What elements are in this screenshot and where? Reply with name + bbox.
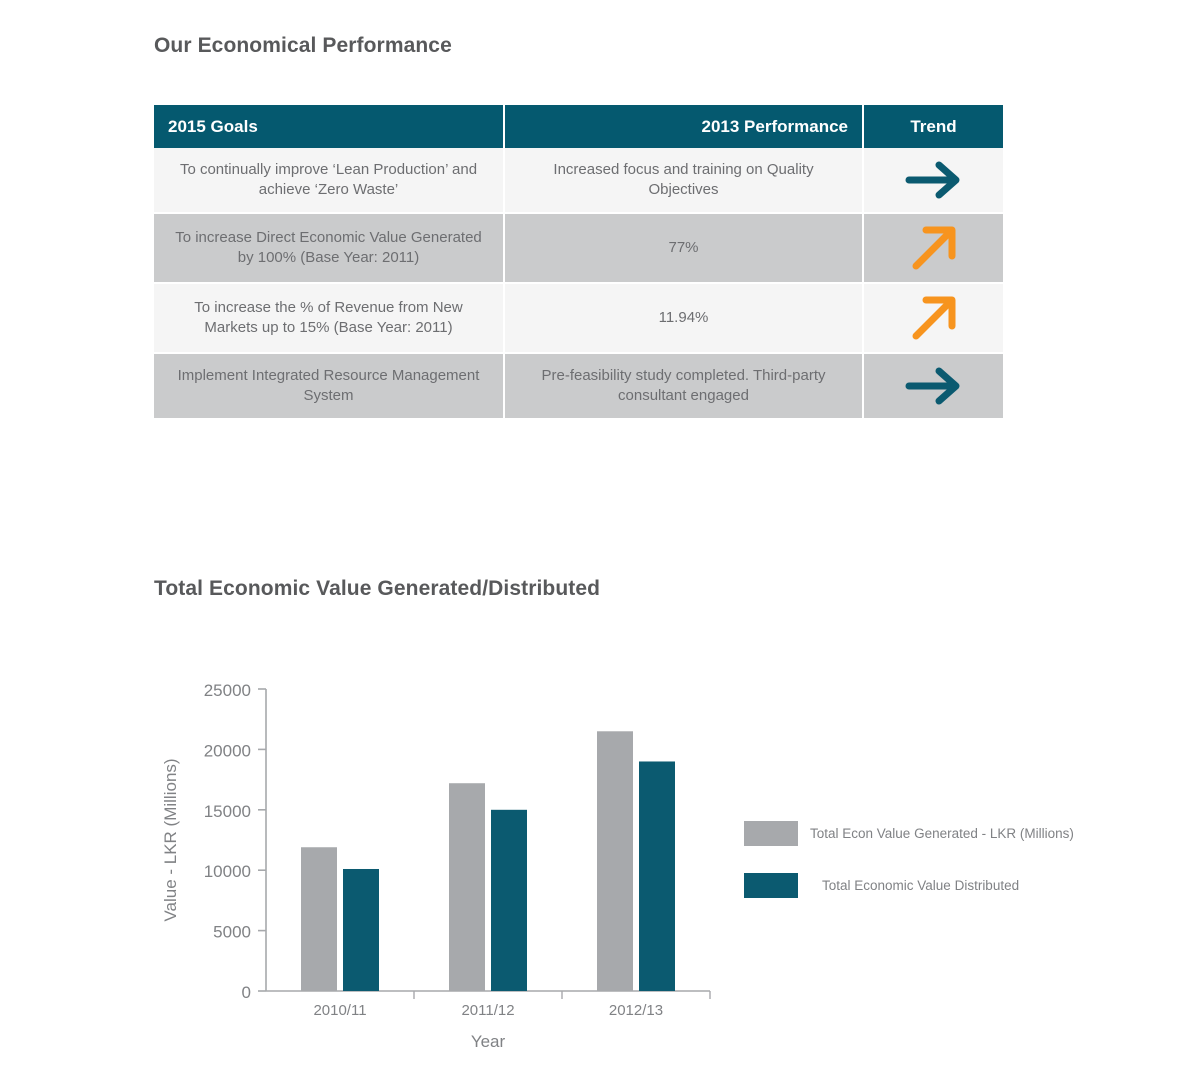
cell-trend bbox=[864, 148, 1003, 214]
legend-swatch-generated bbox=[744, 821, 798, 846]
column-header-goals: 2015 Goals bbox=[154, 105, 505, 148]
cell-goal: To increase Direct Economic Value Genera… bbox=[154, 214, 505, 284]
arrow-right-icon bbox=[903, 158, 965, 202]
arrow-right-icon bbox=[903, 364, 965, 408]
svg-text:2010/11: 2010/11 bbox=[313, 1002, 366, 1019]
svg-text:2011/12: 2011/12 bbox=[461, 1002, 514, 1019]
cell-performance: Increased focus and training on Quality … bbox=[505, 148, 864, 214]
svg-text:0: 0 bbox=[242, 983, 251, 1002]
cell-performance: 77% bbox=[505, 214, 864, 284]
svg-text:Year: Year bbox=[471, 1032, 506, 1051]
legend-swatch-distributed bbox=[744, 873, 798, 898]
arrow-up-right-icon bbox=[906, 222, 962, 274]
table-row: To continually improve ‘Lean Production’… bbox=[154, 148, 1003, 214]
cell-goal: Implement Integrated Resource Management… bbox=[154, 354, 505, 418]
performance-table: 2015 Goals 2013 Performance Trend To con… bbox=[154, 105, 1003, 418]
legend-label-distributed: Total Economic Value Distributed bbox=[822, 878, 1019, 893]
page-title: Our Economical Performance bbox=[154, 34, 452, 58]
column-header-performance: 2013 Performance bbox=[505, 105, 864, 148]
svg-text:5000: 5000 bbox=[213, 923, 251, 942]
arrow-up-right-icon bbox=[906, 292, 962, 344]
svg-text:10000: 10000 bbox=[204, 862, 251, 881]
cell-goal: To increase the % of Revenue from New Ma… bbox=[154, 284, 505, 354]
legend-label-generated: Total Econ Value Generated - LKR (Millio… bbox=[810, 826, 1074, 841]
chart-title: Total Economic Value Generated/Distribut… bbox=[154, 577, 600, 601]
svg-text:25000: 25000 bbox=[204, 681, 251, 700]
svg-text:15000: 15000 bbox=[204, 802, 251, 821]
cell-goal: To continually improve ‘Lean Production’… bbox=[154, 148, 505, 214]
column-header-trend: Trend bbox=[864, 105, 1003, 148]
bar-chart: 05000100001500020000250002010/112011/122… bbox=[154, 640, 1154, 1060]
svg-text:20000: 20000 bbox=[204, 741, 251, 760]
table-row: Implement Integrated Resource Management… bbox=[154, 354, 1003, 418]
svg-text:Value - LKR (Millions): Value - LKR (Millions) bbox=[161, 758, 180, 921]
table-header-row: 2015 Goals 2013 Performance Trend bbox=[154, 105, 1003, 148]
legend-item-distributed: Total Economic Value Distributed bbox=[744, 870, 1074, 900]
cell-performance: 11.94% bbox=[505, 284, 864, 354]
legend-item-generated: Total Econ Value Generated - LKR (Millio… bbox=[744, 818, 1074, 848]
table-row: To increase the % of Revenue from New Ma… bbox=[154, 284, 1003, 354]
table-row: To increase Direct Economic Value Genera… bbox=[154, 214, 1003, 284]
cell-trend bbox=[864, 354, 1003, 418]
cell-performance: Pre-feasibility study completed. Third-p… bbox=[505, 354, 864, 418]
svg-text:2012/13: 2012/13 bbox=[609, 1002, 663, 1019]
chart-legend: Total Econ Value Generated - LKR (Millio… bbox=[744, 818, 1074, 922]
cell-trend bbox=[864, 284, 1003, 354]
cell-trend bbox=[864, 214, 1003, 284]
